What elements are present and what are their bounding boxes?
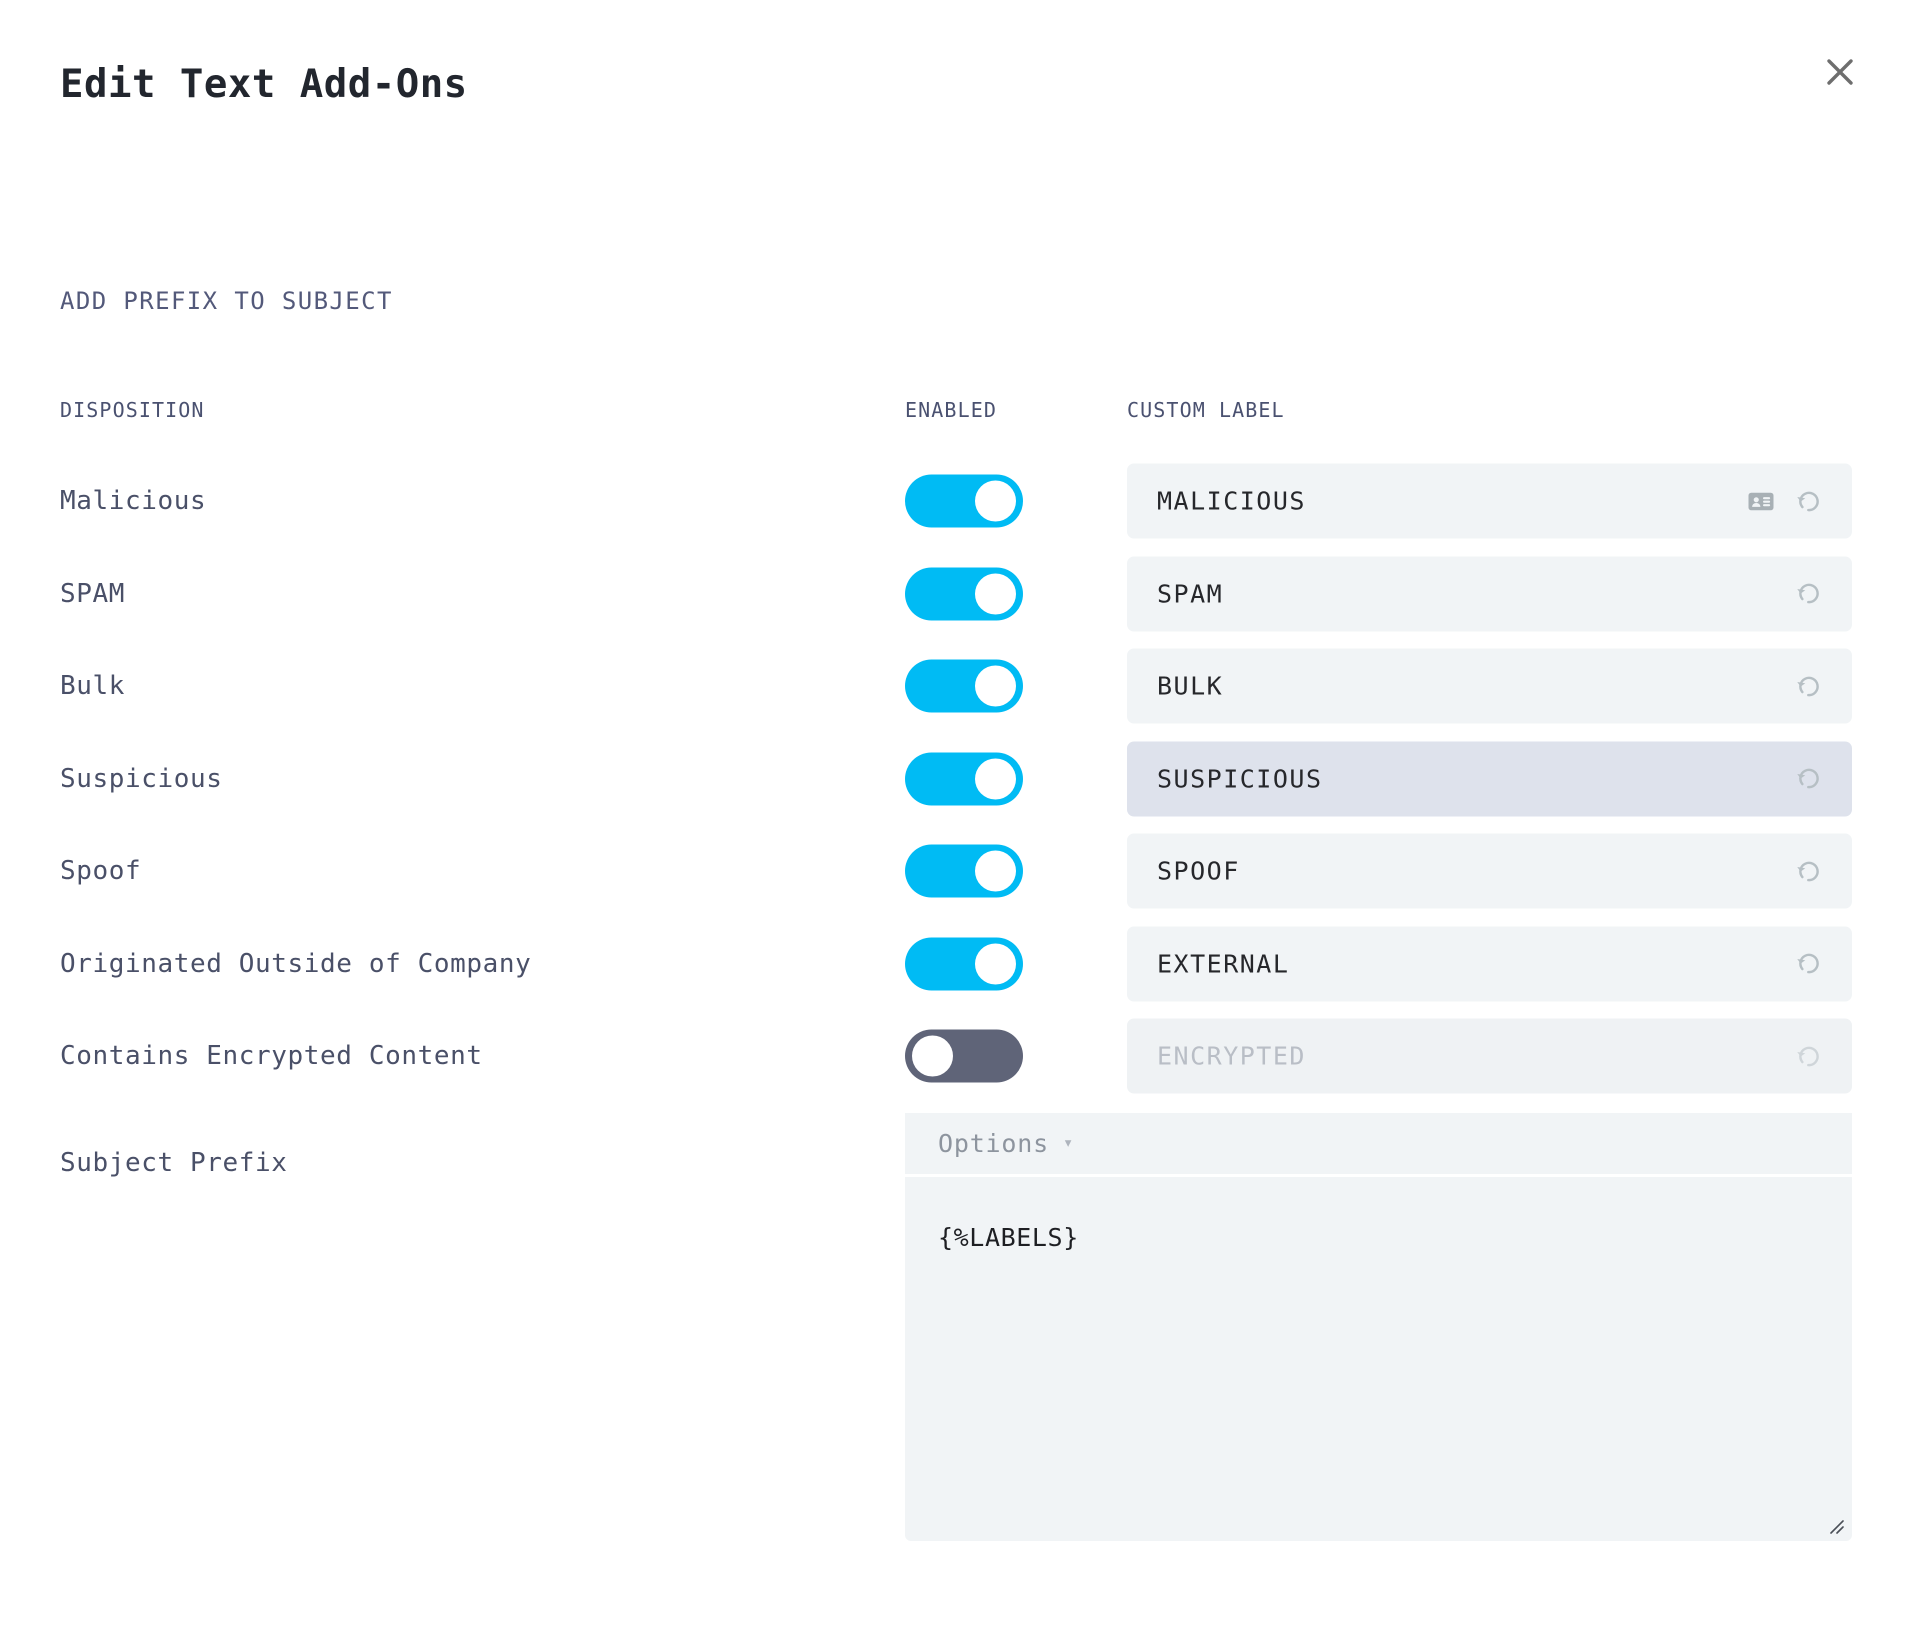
enabled-toggle[interactable]	[905, 845, 1023, 898]
close-button[interactable]	[1810, 42, 1870, 102]
disposition-label: Malicious	[60, 486, 206, 516]
table-row: MaliciousMALICIOUS	[0, 455, 1908, 548]
custom-label-value: SUSPICIOUS	[1127, 764, 1792, 793]
table-row: SPAMSPAM	[0, 548, 1908, 641]
section-heading: ADD PREFIX TO SUBJECT	[60, 287, 393, 315]
enabled-toggle[interactable]	[905, 1030, 1023, 1083]
reset-icon[interactable]	[1792, 854, 1826, 888]
chevron-down-icon: ▾	[1063, 1135, 1073, 1152]
contact-card-icon[interactable]	[1744, 484, 1778, 518]
table-row: Contains Encrypted ContentENCRYPTED	[0, 1010, 1908, 1103]
disposition-label: Spoof	[60, 856, 141, 886]
toggle-knob	[912, 1036, 953, 1077]
reset-icon[interactable]	[1792, 577, 1826, 611]
reset-icon[interactable]	[1792, 484, 1826, 518]
field-icon-group	[1792, 947, 1852, 981]
custom-label-value: ENCRYPTED	[1127, 1042, 1792, 1071]
toggle-knob	[975, 943, 1016, 984]
custom-label-input: ENCRYPTED	[1127, 1019, 1852, 1094]
resize-handle[interactable]	[1823, 1513, 1845, 1535]
custom-label-input[interactable]: MALICIOUS	[1127, 464, 1852, 539]
enabled-toggle[interactable]	[905, 475, 1023, 528]
column-header-disposition: DISPOSITION	[60, 398, 205, 422]
page-title: Edit Text Add-Ons	[60, 62, 468, 107]
column-header-enabled: ENABLED	[905, 398, 997, 422]
toggle-knob	[975, 481, 1016, 522]
custom-label-value: EXTERNAL	[1127, 949, 1792, 978]
disposition-rows: MaliciousMALICIOUSSPAMSPAMBulkBULKSuspic…	[0, 455, 1908, 1103]
table-row: SpoofSPOOF	[0, 825, 1908, 918]
disposition-label: SPAM	[60, 579, 125, 609]
edit-text-addons-dialog: Edit Text Add-Ons ADD PREFIX TO SUBJECT …	[0, 0, 1908, 1650]
disposition-label: Suspicious	[60, 764, 223, 794]
custom-label-value: SPAM	[1127, 579, 1792, 608]
close-icon	[1823, 55, 1857, 89]
disposition-label: Contains Encrypted Content	[60, 1041, 483, 1071]
field-icon-group	[1792, 669, 1852, 703]
custom-label-input[interactable]: SPAM	[1127, 556, 1852, 631]
disposition-label: Bulk	[60, 671, 125, 701]
field-icon-group	[1792, 1039, 1852, 1073]
custom-label-input[interactable]: SUSPICIOUS	[1127, 741, 1852, 816]
field-icon-group	[1744, 484, 1852, 518]
enabled-toggle[interactable]	[905, 752, 1023, 805]
enabled-toggle[interactable]	[905, 567, 1023, 620]
subject-prefix-textarea[interactable]: {%LABELS}	[905, 1177, 1852, 1541]
subject-prefix-textarea-value: {%LABELS}	[938, 1223, 1852, 1252]
field-icon-group	[1792, 577, 1852, 611]
custom-label-input[interactable]: SPOOF	[1127, 834, 1852, 909]
custom-label-value: SPOOF	[1127, 857, 1792, 886]
table-row: SuspiciousSUSPICIOUS	[0, 733, 1908, 826]
custom-label-input[interactable]: EXTERNAL	[1127, 926, 1852, 1001]
subject-prefix-label: Subject Prefix	[60, 1148, 288, 1178]
toggle-knob	[975, 758, 1016, 799]
toggle-knob	[975, 666, 1016, 707]
disposition-label: Originated Outside of Company	[60, 949, 531, 979]
custom-label-value: MALICIOUS	[1127, 487, 1744, 516]
options-dropdown-label: Options	[938, 1129, 1049, 1158]
table-row: BulkBULK	[0, 640, 1908, 733]
custom-label-input[interactable]: BULK	[1127, 649, 1852, 724]
reset-icon[interactable]	[1792, 1039, 1826, 1073]
field-icon-group	[1792, 762, 1852, 796]
custom-label-value: BULK	[1127, 672, 1792, 701]
toggle-knob	[975, 851, 1016, 892]
reset-icon[interactable]	[1792, 669, 1826, 703]
enabled-toggle[interactable]	[905, 660, 1023, 713]
reset-icon[interactable]	[1792, 762, 1826, 796]
reset-icon[interactable]	[1792, 947, 1826, 981]
enabled-toggle[interactable]	[905, 937, 1023, 990]
column-header-custom-label: CUSTOM LABEL	[1127, 398, 1285, 422]
table-row: Originated Outside of CompanyEXTERNAL	[0, 918, 1908, 1011]
options-dropdown[interactable]: Options ▾	[905, 1113, 1852, 1174]
field-icon-group	[1792, 854, 1852, 888]
toggle-knob	[975, 573, 1016, 614]
